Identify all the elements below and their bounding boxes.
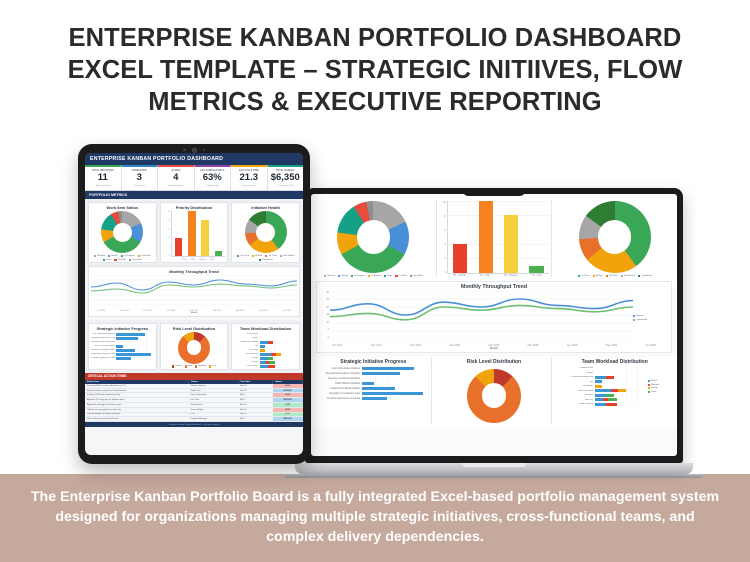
team-track xyxy=(260,365,297,368)
risk-level-donut[interactable] xyxy=(178,332,210,364)
work-item-status-donut[interactable] xyxy=(337,201,409,273)
legend-item: At Risk xyxy=(252,255,262,257)
panel-priority-distribution-laptop: 1086420 P0 - CriticalP1 - HighP2 - Mediu… xyxy=(436,199,553,278)
legend-label: Ready xyxy=(651,387,657,389)
panel-initiative-progress-laptop: Strategic Initiative Progress Cost Optim… xyxy=(316,357,432,424)
legend-label: Active xyxy=(651,380,657,382)
legend-swatch xyxy=(114,259,116,261)
legend-item: Off Track xyxy=(606,275,618,277)
team-row[interactable]: DevOps xyxy=(234,357,297,360)
panel-title: Team Workload Distribution xyxy=(582,359,648,365)
panel-title: Risk Level Distribution xyxy=(173,326,215,331)
team-label: Security xyxy=(234,361,258,363)
legend-item: Off Track xyxy=(265,255,277,257)
progress-fill xyxy=(116,337,138,340)
month-label: Jun 2025 xyxy=(645,344,656,347)
team-track xyxy=(595,394,648,397)
team-track xyxy=(260,333,297,336)
progress-row[interactable]: Infrastructure Modernization xyxy=(91,349,154,352)
kpi-sub: Days per item xyxy=(232,185,266,188)
team-label: UX/Design xyxy=(234,349,258,351)
bar[interactable] xyxy=(175,238,183,256)
team-segment xyxy=(268,341,273,344)
team-stack xyxy=(260,365,297,368)
axis-tick: 10 xyxy=(326,321,329,324)
bar[interactable] xyxy=(453,244,467,273)
bar[interactable] xyxy=(479,201,493,273)
laptop-base xyxy=(295,463,693,474)
work-item-status-legend: BacklogReadyIn ProgressIn ReviewDoneOn H… xyxy=(324,275,422,277)
legend-item: Completed xyxy=(633,319,647,321)
month-label: Oct 2024 xyxy=(332,344,343,347)
legend-item: High xyxy=(185,365,193,367)
laptop-screen: BacklogReadyIn ProgressIn ReviewDoneOn H… xyxy=(311,194,677,456)
team-stack xyxy=(260,345,297,348)
team-segment xyxy=(595,385,602,388)
legend-item: Ready xyxy=(338,275,348,277)
kpi-card[interactable]: AT RISK 4 Need attention xyxy=(158,165,195,190)
tablet-camera-group xyxy=(78,148,310,153)
legend-item: Medium xyxy=(195,365,206,367)
progress-track xyxy=(116,337,153,340)
progress-track xyxy=(116,345,153,348)
chart-row-bottom-tablet: Strategic Initiative Progress Cost Optim… xyxy=(85,320,303,373)
legend-item: Completed xyxy=(638,275,652,277)
month-label: Mar 2025 xyxy=(213,310,221,312)
team-segment xyxy=(595,389,611,392)
legend-swatch xyxy=(259,259,261,261)
legend-swatch xyxy=(648,387,650,389)
legend-label: At Risk xyxy=(255,255,262,257)
team-track xyxy=(595,380,648,383)
team-stack xyxy=(595,398,648,401)
progress-label: Revenue Growth Acceleration xyxy=(318,377,360,380)
legend-swatch xyxy=(265,255,267,257)
progress-track xyxy=(362,382,429,385)
kpi-value: 63% xyxy=(196,172,230,185)
axis-tick: 10 xyxy=(443,201,446,204)
kpi-card[interactable]: TOTAL INITIATIVES 11 Active portfolio xyxy=(85,165,122,190)
bar[interactable] xyxy=(529,266,543,273)
month-label: Nov 2024 xyxy=(120,310,129,312)
legend-label: Completed xyxy=(636,319,647,321)
team-label: Data Science xyxy=(559,403,593,405)
legend-label: Done xyxy=(387,275,392,277)
legend-swatch xyxy=(368,275,370,277)
cell-owner: Program Manager xyxy=(189,417,239,422)
team-row[interactable]: Security xyxy=(559,398,648,401)
axis-tick: 30 xyxy=(326,291,329,294)
legend-label: Completed xyxy=(262,259,273,261)
team-row[interactable]: UX/Design xyxy=(559,385,648,388)
legend-swatch xyxy=(195,365,197,367)
legend-label: Critical xyxy=(175,365,182,367)
panel-team-workload: Team Workload Distribution Infrastructur… xyxy=(231,323,300,370)
team-track xyxy=(595,371,648,374)
panel-title: Team Workload Distribution xyxy=(240,326,292,331)
progress-row[interactable]: Regulatory Compliance Suite xyxy=(318,392,429,395)
progress-row[interactable]: Customer Experience Overhaul xyxy=(318,397,429,400)
team-track xyxy=(260,341,297,344)
legend-label: Not Started xyxy=(283,255,294,257)
team-row[interactable]: DevOps xyxy=(559,394,648,397)
team-segment xyxy=(606,403,617,406)
progress-row[interactable]: Revenue Growth Acceleration xyxy=(91,341,154,344)
progress-row[interactable]: AI/ML Platform Buildout xyxy=(91,345,154,348)
laptop-lid: BacklogReadyIn ProgressIn ReviewDoneOn H… xyxy=(305,188,683,463)
legend-swatch xyxy=(648,380,650,382)
axis-tick: 15 xyxy=(326,313,329,316)
legend-item: Not Started xyxy=(621,275,635,277)
team-stack xyxy=(595,380,648,383)
progress-fill xyxy=(116,333,145,336)
team-track xyxy=(595,403,648,406)
progress-label: Operational Excellence Program xyxy=(91,337,115,339)
legend-item: In Progress xyxy=(351,275,365,277)
y-axis-ticks: 1086420 xyxy=(163,211,171,256)
progress-track xyxy=(116,357,153,360)
team-label: Cloud Services xyxy=(234,353,258,355)
team-row[interactable]: Mobile xyxy=(234,337,297,340)
panel-initiative-health: Initiative Health On TrackAt RiskOff Tra… xyxy=(231,202,300,262)
throughput-line-chart[interactable] xyxy=(330,291,633,344)
team-segment xyxy=(269,361,275,364)
team-segment xyxy=(268,357,273,360)
team-label: DevOps xyxy=(234,357,258,359)
team-row[interactable]: QA xyxy=(234,345,297,348)
team-stack xyxy=(595,367,648,370)
team-label: Infrastructure xyxy=(559,367,593,369)
laptop-foot xyxy=(285,474,703,478)
progress-track xyxy=(362,372,429,375)
team-stack xyxy=(595,394,648,397)
progress-fill xyxy=(116,349,135,352)
progress-track xyxy=(362,377,429,380)
legend-swatch xyxy=(172,365,174,367)
progress-track xyxy=(116,349,153,352)
progress-label: Regulatory Compliance Suite xyxy=(318,392,360,395)
team-stack xyxy=(595,385,648,388)
throughput-line-chart[interactable] xyxy=(91,275,297,310)
team-row[interactable]: UX/Design xyxy=(234,349,297,352)
progress-row[interactable]: Revenue Growth Acceleration xyxy=(318,377,429,380)
axis-tick: 2 xyxy=(444,257,445,260)
team-workload-bars[interactable]: InfrastructureMobileProduct DevelopmentQ… xyxy=(559,366,648,406)
bar[interactable] xyxy=(504,215,518,272)
progress-label: Cost Optimization Initiative xyxy=(91,333,115,335)
progress-row[interactable]: Operational Excellence Program xyxy=(91,337,154,340)
initiative-health-donut[interactable] xyxy=(245,211,287,253)
kpi-sub: Active portfolio xyxy=(86,185,120,188)
risk-level-legend: CriticalHighMediumLow xyxy=(172,365,217,367)
legend-item: In Review xyxy=(138,255,151,257)
panel-risk-level: Risk Level Distribution CriticalHighMedi… xyxy=(160,323,229,370)
team-track xyxy=(260,337,297,340)
throughput-svg xyxy=(91,275,297,305)
team-row[interactable]: Security xyxy=(234,361,297,364)
progress-fill xyxy=(362,372,401,375)
legend-swatch xyxy=(621,275,623,277)
legend-label: In Review xyxy=(371,275,381,277)
tablet-device: ENTERPRISE KANBAN PORTFOLIO DASHBOARD TO… xyxy=(78,144,310,464)
legend-item: Blocked xyxy=(648,384,659,386)
x-axis-title: Month xyxy=(319,347,669,350)
legend-item: Done xyxy=(103,259,111,261)
progress-row[interactable]: Customer Experience Overhaul xyxy=(91,357,154,360)
progress-fill xyxy=(362,367,414,370)
team-workload-bars[interactable]: InfrastructureMobileProduct DevelopmentQ… xyxy=(234,332,297,368)
legend-swatch xyxy=(395,275,397,277)
team-stack xyxy=(595,403,648,406)
team-segment xyxy=(618,389,625,392)
progress-label: Infrastructure Modernization xyxy=(318,387,360,390)
legend-swatch xyxy=(633,319,635,321)
initiative-progress-bars[interactable]: Cost Optimization InitiativeOperational … xyxy=(318,366,429,400)
bar[interactable] xyxy=(188,211,196,255)
action-items-table[interactable]: Action ItemOwnerDue DateStatus Escalate … xyxy=(85,380,303,422)
team-row[interactable]: Data Science xyxy=(559,403,648,406)
axis-tick: 4 xyxy=(444,243,445,246)
progress-label: Operational Excellence Program xyxy=(318,372,360,375)
axis-label: P2 - Medium xyxy=(199,257,206,261)
progress-fill xyxy=(362,387,396,390)
caption-text: The Enterprise Kanban Portfolio Board is… xyxy=(28,487,722,547)
axis-label: P0 - Critical xyxy=(180,257,187,261)
panel-work-item-status-laptop: BacklogReadyIn ProgressIn ReviewDoneOn H… xyxy=(316,199,431,278)
legend-swatch xyxy=(129,259,131,261)
progress-fill xyxy=(362,382,374,385)
progress-track xyxy=(116,333,153,336)
axis-label: P1 - High xyxy=(476,274,494,277)
team-segment xyxy=(606,394,613,397)
panel-risk-level-laptop: Risk Level Distribution xyxy=(437,357,553,424)
chart-row-bottom-laptop: Strategic Initiative Progress Cost Optim… xyxy=(311,357,677,429)
legend-swatch xyxy=(209,365,211,367)
initiative-progress-bars[interactable]: Cost Optimization InitiativeOperational … xyxy=(91,332,154,360)
legend-label: In Progress xyxy=(354,275,365,277)
title-line-2: EXCEL TEMPLATE – STRATEGIC INITIIVES, FL… xyxy=(18,54,732,86)
legend-item: Backlog xyxy=(94,255,105,257)
dashboard-footer: Enterprise Kanban Portfolio Dashboard — … xyxy=(85,422,303,427)
team-segment xyxy=(260,345,265,348)
axis-tick: 20 xyxy=(326,306,329,309)
kpi-card[interactable]: AVG COMPLETION % 63% Portfolio wide xyxy=(195,165,232,190)
month-label: Mar 2025 xyxy=(528,344,539,347)
panel-title: Risk Level Distribution xyxy=(467,359,521,365)
legend-swatch xyxy=(185,365,187,367)
legend-swatch xyxy=(252,255,254,257)
progress-row[interactable]: Regulatory Compliance Suite xyxy=(91,353,154,356)
legend-label: Ready xyxy=(111,255,117,257)
progress-row[interactable]: AI/ML Platform Buildout xyxy=(318,382,429,385)
kpi-sub: Thousands USD xyxy=(269,185,303,188)
team-segment xyxy=(260,357,268,360)
team-segment xyxy=(606,376,613,379)
legend-swatch xyxy=(648,391,650,393)
progress-track xyxy=(362,387,429,390)
axis-label: P2 - Medium xyxy=(502,274,520,277)
progress-row[interactable]: Operational Excellence Program xyxy=(318,372,429,375)
kpi-row-tablet: TOTAL INITIATIVES 11 Active portfolio CO… xyxy=(85,165,303,191)
team-segment xyxy=(260,349,265,352)
progress-label: AI/ML Platform Buildout xyxy=(91,345,115,347)
month-label: Nov 2024 xyxy=(371,344,382,347)
legend-label: Blocked xyxy=(651,384,659,386)
legend-label: On Hold xyxy=(118,259,126,261)
legend-swatch xyxy=(121,255,123,257)
progress-label: Regulatory Compliance Suite xyxy=(91,353,115,355)
month-label: May 2025 xyxy=(606,344,617,347)
progress-row[interactable]: Infrastructure Modernization xyxy=(318,387,429,390)
legend-swatch xyxy=(94,255,96,257)
progress-track xyxy=(362,367,429,370)
page-title: ENTERPRISE KANBAN PORTFOLIO DASHBOARD EX… xyxy=(0,22,750,118)
team-track xyxy=(595,367,648,370)
throughput-y-ticks: 302520151050 xyxy=(319,291,330,339)
team-segment xyxy=(268,365,275,368)
title-line-1: ENTERPRISE KANBAN PORTFOLIO DASHBOARD xyxy=(18,22,732,54)
legend-label: Cancelled xyxy=(413,275,423,277)
priority-bar-chart[interactable]: 1086420 xyxy=(163,211,226,256)
kpi-card[interactable]: TOTAL BUDGET $6,350 Thousands USD xyxy=(268,165,304,190)
team-workload-legend: ActiveBlockedReadyDone xyxy=(648,367,670,406)
kpi-value: 21.3 xyxy=(232,172,266,185)
progress-label: AI/ML Platform Buildout xyxy=(318,382,360,385)
team-track xyxy=(260,353,297,356)
team-stack xyxy=(260,333,297,336)
bar[interactable] xyxy=(201,220,209,256)
axis-tick: 6 xyxy=(444,229,445,232)
panel-title: Work Item Status xyxy=(106,205,138,210)
throughput-svg xyxy=(330,291,633,339)
axis-label: P1 - High xyxy=(190,257,197,261)
legend-item: Done xyxy=(384,275,392,277)
progress-label: Customer Experience Overhaul xyxy=(91,357,115,359)
team-segment xyxy=(611,389,618,392)
team-segment xyxy=(260,365,268,368)
axis-tick: 8 xyxy=(169,220,170,222)
work-item-status-donut[interactable] xyxy=(101,211,143,253)
team-segment xyxy=(595,380,602,383)
team-row[interactable]: Mobile xyxy=(559,371,648,374)
team-row[interactable]: Infrastructure xyxy=(559,367,648,370)
status-badge: MEDIUM xyxy=(273,417,303,422)
legend-label: In Progress xyxy=(124,255,135,257)
progress-track xyxy=(362,392,429,395)
legend-item: Not Started xyxy=(280,255,294,257)
x-axis-labels: P0 - CriticalP1 - HighP2 - MediumP3 - Lo… xyxy=(439,274,550,277)
month-label: Oct 2024 xyxy=(97,310,105,312)
legend-label: Done xyxy=(651,391,656,393)
laptop-device: BacklogReadyIn ProgressIn ReviewDoneOn H… xyxy=(305,188,683,478)
progress-row[interactable]: Cost Optimization Initiative xyxy=(91,333,154,336)
panel-title: Initiative Health xyxy=(251,205,280,210)
legend-label: Cancelled xyxy=(132,259,142,261)
legend-label: Backlog xyxy=(327,275,335,277)
legend-item: Critical xyxy=(172,365,182,367)
team-segment xyxy=(595,398,604,401)
month-label: Apr 2025 xyxy=(567,344,578,347)
panel-work-item-status: Work Item Status BacklogReadyIn Progress… xyxy=(88,202,157,262)
legend-item: Cancelled xyxy=(129,259,142,261)
team-track xyxy=(595,376,648,379)
legend-item: On Hold xyxy=(395,275,406,277)
legend-item: Completed xyxy=(259,259,273,261)
legend-item: Cancelled xyxy=(410,275,423,277)
team-row[interactable]: Product Development xyxy=(234,341,297,344)
team-segment xyxy=(260,353,271,356)
legend-label: Done xyxy=(106,259,111,261)
team-label: Product Development xyxy=(234,341,258,343)
team-row[interactable]: Cloud Services xyxy=(559,389,648,392)
table-body: Escalate AI/ML resource allocation to CT… xyxy=(85,384,303,422)
kpi-sub: Portfolio wide xyxy=(196,185,230,188)
kpi-value: 3 xyxy=(123,172,157,185)
progress-track xyxy=(116,353,153,356)
kpi-card[interactable]: AVG CYCLE TIME 21.3 Days per item xyxy=(231,165,268,190)
legend-item: In Review xyxy=(368,275,381,277)
risk-level-donut[interactable] xyxy=(467,369,521,423)
initiative-health-donut[interactable] xyxy=(579,201,651,273)
team-row[interactable]: Infrastructure xyxy=(234,333,297,336)
legend-item: In Progress xyxy=(121,255,135,257)
legend-label: On Hold xyxy=(399,275,407,277)
team-label: DevOps xyxy=(559,394,593,396)
team-segment xyxy=(608,398,617,401)
team-stack xyxy=(595,389,648,392)
y-axis-ticks: 1086420 xyxy=(439,201,447,274)
chart-row-top-laptop: BacklogReadyIn ProgressIn ReviewDoneOn H… xyxy=(311,194,677,281)
legend-item: Backlog xyxy=(324,275,335,277)
team-track xyxy=(260,357,297,360)
team-row[interactable]: Product Development xyxy=(559,376,648,379)
axis-tick: 5 xyxy=(328,328,329,331)
axis-tick: 10 xyxy=(167,211,169,213)
legend-swatch xyxy=(108,255,110,257)
title-line-3: METRICS & EXECUTIVE REPORTING xyxy=(18,86,732,118)
kpi-value: 4 xyxy=(159,172,193,185)
team-row[interactable]: QA xyxy=(559,380,648,383)
team-segment xyxy=(595,394,607,397)
priority-bar-chart[interactable]: 1086420 xyxy=(439,201,550,274)
month-label: Jan 2025 xyxy=(450,344,461,347)
team-label: QA xyxy=(234,345,258,347)
team-row[interactable]: Data Science xyxy=(234,365,297,368)
kpi-card[interactable]: COMPLETED 3 This quarter xyxy=(122,165,159,190)
team-segment xyxy=(595,376,607,379)
team-label: Mobile xyxy=(234,337,258,339)
team-label: Cloud Services xyxy=(559,390,593,392)
throughput-legend: StartedCompleted xyxy=(633,292,669,344)
legend-label: Not Started xyxy=(624,275,635,277)
month-label: Dec 2024 xyxy=(410,344,421,347)
axis-label: P0 - Critical xyxy=(450,274,468,277)
team-stack xyxy=(260,341,297,344)
legend-swatch xyxy=(648,384,650,386)
legend-swatch xyxy=(338,275,340,277)
team-stack xyxy=(260,361,297,364)
legend-label: Ready xyxy=(341,275,347,277)
table-row[interactable]: Risk review presentation to BoardProgram… xyxy=(85,417,303,422)
legend-item: On Hold xyxy=(114,259,125,261)
bar[interactable] xyxy=(215,251,223,255)
legend-swatch xyxy=(593,275,595,277)
legend-item: On Track xyxy=(578,275,590,277)
team-row[interactable]: Cloud Services xyxy=(234,353,297,356)
progress-fill xyxy=(116,357,130,360)
progress-row[interactable]: Cost Optimization Initiative xyxy=(318,367,429,370)
kpi-sub: This quarter xyxy=(123,185,157,188)
